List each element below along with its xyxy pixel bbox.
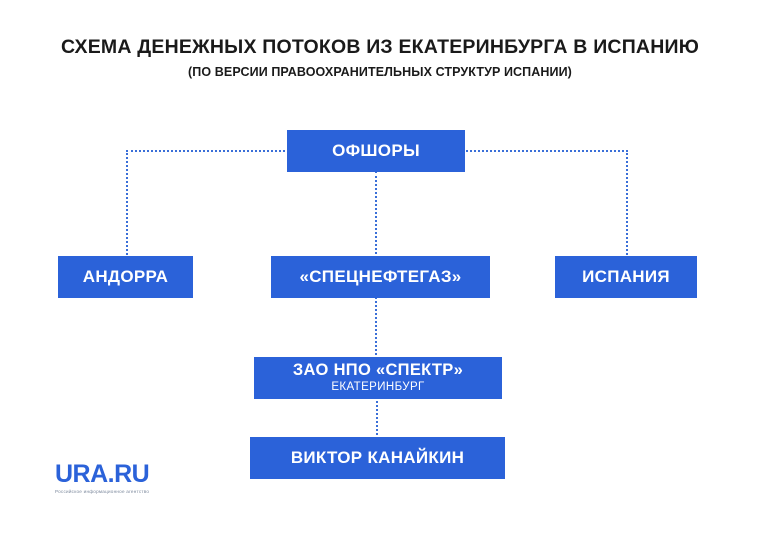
connector-to-spain bbox=[626, 150, 628, 258]
node-viktor-kanaykin-label: ВИКТОР КАНАЙКИН bbox=[291, 449, 464, 467]
node-zao-npo-spektr: ЗАО НПО «СПЕКТР» ЕКАТЕРИНБУРГ bbox=[254, 357, 502, 399]
connector-offshore-to-spetsneftegaz bbox=[375, 171, 377, 258]
ura-ru-logo-tagline: Российское информационное агентство bbox=[55, 490, 149, 495]
page-subtitle: (ПО ВЕРСИИ ПРАВООХРАНИТЕЛЬНЫХ СТРУКТУР И… bbox=[0, 65, 760, 79]
node-spain-label: ИСПАНИЯ bbox=[582, 268, 670, 286]
connector-offshore-to-left-bus bbox=[126, 150, 289, 152]
ura-ru-logo-wordmark: URA.RU bbox=[55, 462, 149, 487]
connector-offshore-to-right-bus bbox=[463, 150, 628, 152]
node-offshore-label: ОФШОРЫ bbox=[332, 142, 420, 160]
node-andorra: АНДОРРА bbox=[58, 256, 193, 298]
page-title: СХЕМА ДЕНЕЖНЫХ ПОТОКОВ ИЗ ЕКАТЕРИНБУРГА … bbox=[0, 36, 760, 59]
node-offshore: ОФШОРЫ bbox=[287, 130, 465, 172]
node-spain: ИСПАНИЯ bbox=[555, 256, 697, 298]
node-zao-npo-spektr-label: ЗАО НПО «СПЕКТР» bbox=[293, 362, 463, 379]
node-zao-npo-spektr-city: ЕКАТЕРИНБУРГ bbox=[331, 381, 424, 394]
diagram-canvas: СХЕМА ДЕНЕЖНЫХ ПОТОКОВ ИЗ ЕКАТЕРИНБУРГА … bbox=[0, 0, 760, 537]
connector-spetsneftegaz-to-spektr bbox=[375, 297, 377, 359]
connector-to-andorra bbox=[126, 150, 128, 258]
node-andorra-label: АНДОРРА bbox=[83, 268, 168, 286]
node-viktor-kanaykin: ВИКТОР КАНАЙКИН bbox=[250, 437, 505, 479]
connector-spektr-to-kanaykin bbox=[376, 397, 378, 439]
ura-ru-logo: URA.RU Российское информационное агентст… bbox=[55, 462, 149, 495]
node-spetsneftegaz: «СПЕЦНЕФТЕГАЗ» bbox=[271, 256, 490, 298]
node-spetsneftegaz-label: «СПЕЦНЕФТЕГАЗ» bbox=[299, 268, 461, 286]
